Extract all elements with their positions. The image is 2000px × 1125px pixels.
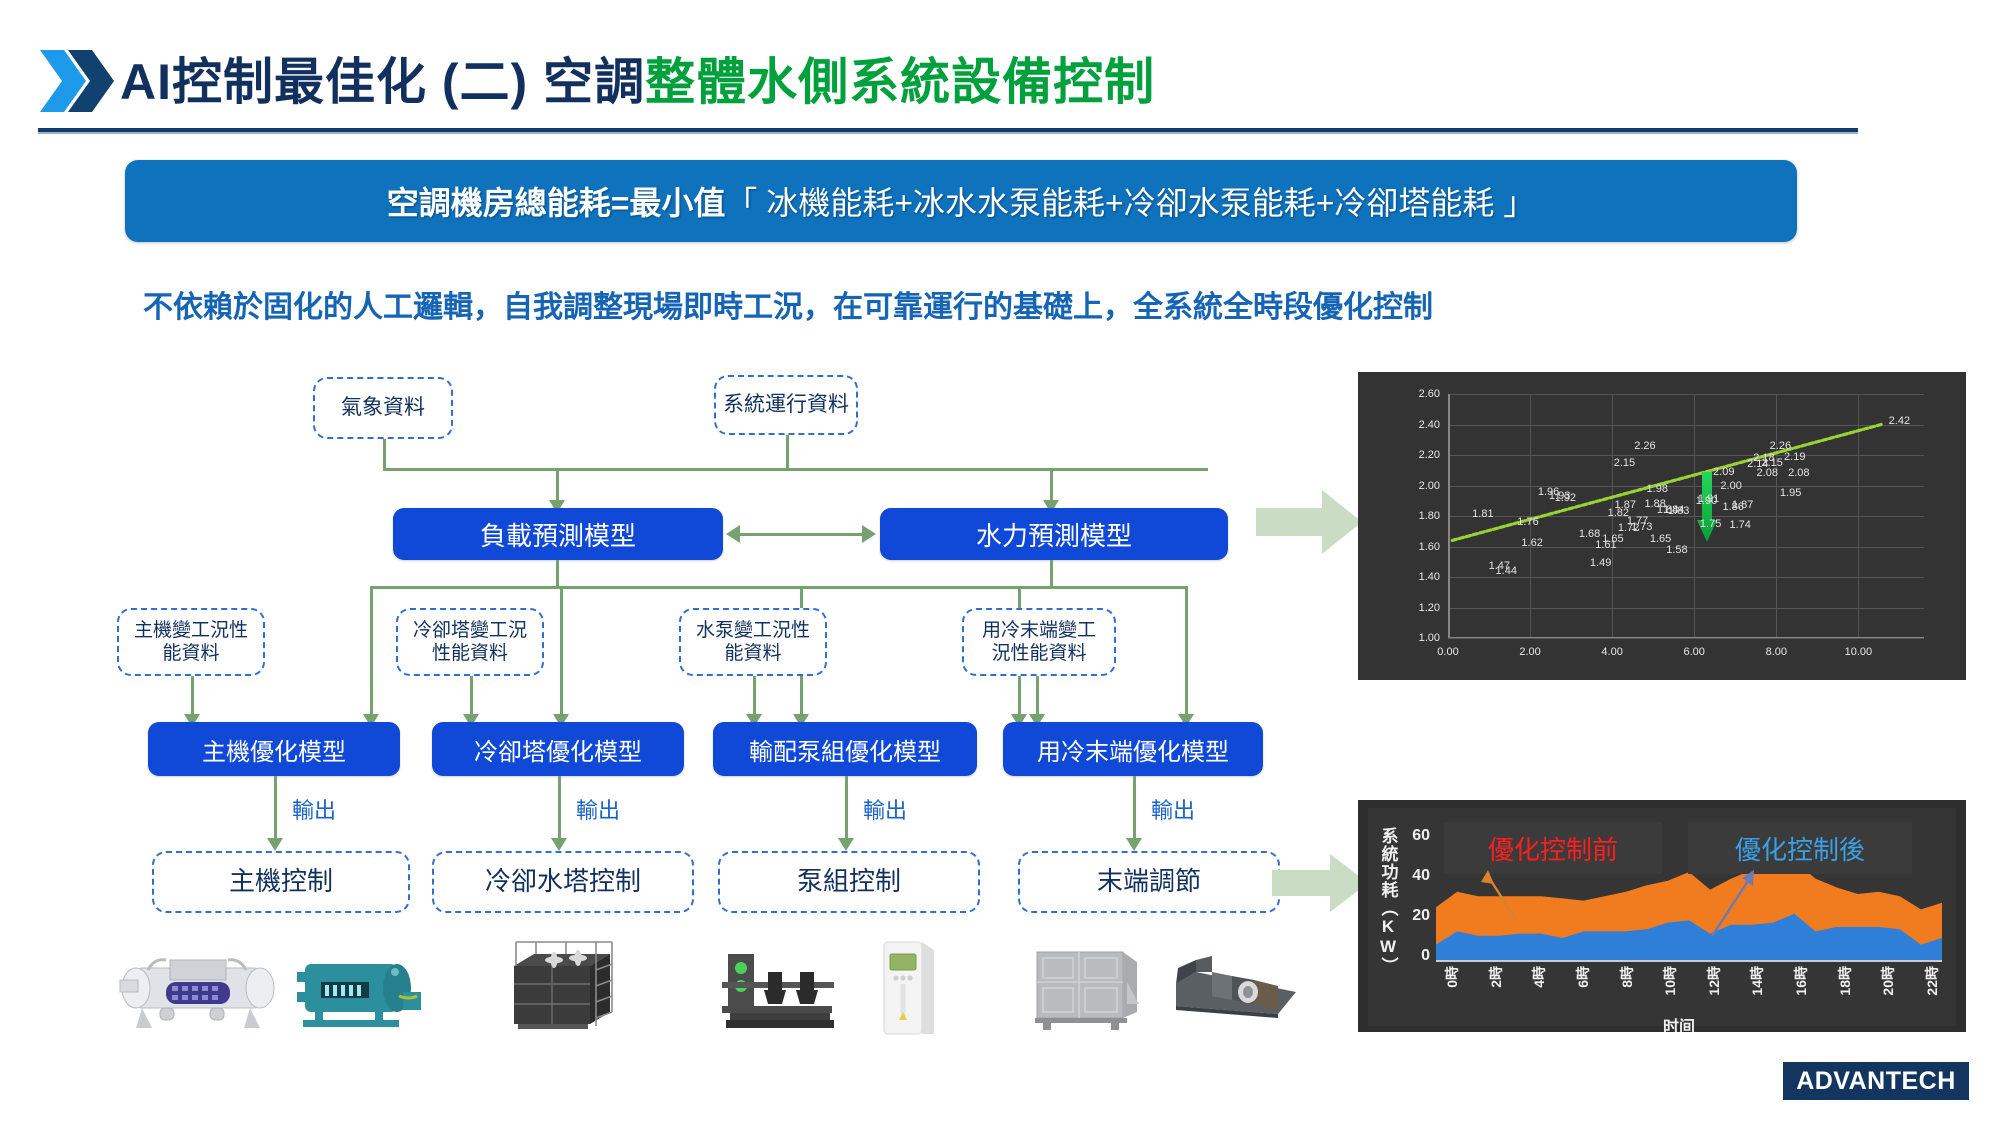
title-divider	[38, 128, 1858, 133]
formula-normal-part: 「 冰機能耗+冰水水泵能耗+冷卻水泵能耗+冷卻塔能耗 」	[725, 185, 1535, 221]
control-box-terminal[interactable]: 末端調節	[1018, 851, 1280, 913]
control-box-tower-label: 冷卻水塔控制	[485, 866, 641, 898]
scatter-ytick-1-00: 1.00	[1419, 632, 1440, 644]
formula-banner: 空調機房總能耗=最小值「 冰機能耗+冰水水泵能耗+冷卻水泵能耗+冷卻塔能耗 」	[125, 160, 1797, 242]
scatter-ytick-1-20: 1.20	[1419, 602, 1440, 614]
legend-before-label: 優化控制前	[1488, 830, 1618, 867]
optimizer-box-pump-label: 輸配泵組優化模型	[749, 732, 941, 767]
perf-box-chiller[interactable]: 主機變工況性 能資料	[117, 608, 265, 676]
input-box-system[interactable]: 系統運行資料	[714, 375, 858, 435]
optimizer-box-terminal-label: 用冷末端優化模型	[1037, 732, 1229, 767]
optimizer-box-terminal[interactable]: 用冷末端優化模型	[1003, 722, 1263, 776]
perf-box-terminal-line2: 況性能資料	[991, 643, 1086, 664]
area-chart-xtick: 14時	[1747, 966, 1767, 996]
connector-perf-2-down	[470, 676, 473, 716]
page-title-part1: AI控制最佳化 (二) 空調	[120, 54, 645, 110]
perf-box-pump-label: 水泵變工況性 能資料	[696, 619, 810, 665]
scatter-ytick-1-40: 1.40	[1419, 571, 1440, 583]
scatter-point-label: 1.62	[1521, 537, 1542, 549]
perf-box-tower-label: 冷卻塔變工況 性能資料	[413, 619, 527, 665]
subtitle-text: 不依賴於固化的人工邏輯，自我調整現場即時工況，在可靠運行的基礎上，全系統全時段優…	[143, 282, 1883, 326]
connector-drop-2	[560, 586, 563, 716]
connector-out-1	[274, 776, 277, 840]
scatter-point-label: 1.73	[1631, 521, 1652, 533]
equipment-ahu-icon	[1029, 942, 1145, 1034]
perf-box-chiller-line1: 主機變工況性	[134, 620, 248, 641]
control-box-tower[interactable]: 冷卻水塔控制	[432, 851, 694, 913]
block-arrow-to-bottom-chart	[1272, 852, 1370, 914]
optimizer-box-chiller-label: 主機優化模型	[202, 732, 346, 767]
scatter-point-label: 1.87	[1615, 499, 1636, 511]
input-box-system-label: 系統運行資料	[723, 392, 849, 418]
area-chart-xtick: 4時	[1529, 966, 1549, 988]
arrow-out-4	[1126, 838, 1142, 851]
connector-weather-down	[383, 439, 386, 468]
optimizer-box-chiller[interactable]: 主機優化模型	[148, 722, 400, 776]
arrow-out-2	[551, 838, 567, 851]
area-ytick-0: 0	[1402, 947, 1430, 965]
equipment-pump-skid-icon	[716, 948, 846, 1034]
scatter-point-label: 1.76	[1517, 516, 1538, 528]
perf-box-chiller-label: 主機變工況性 能資料	[134, 619, 248, 665]
equipment-cooling-tower-icon	[500, 940, 620, 1038]
model-box-hydraulic-prediction-label: 水力預測模型	[976, 516, 1132, 553]
scatter-point-label: 1.75	[1700, 518, 1721, 530]
perf-box-pump[interactable]: 水泵變工況性 能資料	[679, 608, 827, 676]
legend-after-label: 優化控制後	[1735, 830, 1865, 867]
scatter-ytick-2-20: 2.20	[1419, 449, 1440, 461]
scatter-point-label: 2.15	[1761, 457, 1782, 469]
area-chart-panel: 系統功耗（KW） 60 40 20 0 0時2時4時6時8時10時12時14時1…	[1358, 800, 1966, 1032]
scatter-point-label: 1.83	[1668, 505, 1689, 517]
area-chart-xtick: 10時	[1660, 966, 1680, 996]
connector-lower-bus-left	[370, 586, 800, 589]
model-box-load-prediction-label: 負載預測模型	[480, 516, 636, 553]
connector-drop-5	[1185, 586, 1188, 716]
optimizer-box-tower[interactable]: 冷卻塔優化模型	[432, 722, 684, 776]
optimizer-box-tower-label: 冷卻塔優化模型	[474, 732, 642, 767]
chevron-logo-icon	[38, 44, 114, 118]
control-box-pump-label: 泵組控制	[797, 866, 901, 898]
scatter-point-label: 2.15	[1614, 457, 1635, 469]
formula-bold-part: 空調機房總能耗=最小值	[387, 185, 726, 221]
connector-models-bidirectional	[736, 533, 868, 536]
connector-out-2	[558, 776, 561, 840]
page-title: AI控制最佳化 (二) 空調整體水側系統設備控制	[120, 42, 1155, 114]
scatter-ytick-2-00: 2.00	[1419, 480, 1440, 492]
arrow-out-1	[267, 838, 283, 851]
connector-load-model-down	[556, 560, 559, 586]
output-label-3: 輸出	[863, 793, 907, 825]
callout-arrow-before-icon	[1478, 866, 1520, 922]
connector-perf-3-down	[753, 676, 756, 716]
perf-box-terminal[interactable]: 用冷末端變工 況性能資料	[962, 608, 1116, 676]
callout-arrow-after-icon	[1708, 866, 1760, 938]
formula-banner-text: 空調機房總能耗=最小值「 冰機能耗+冰水水泵能耗+冷卻水泵能耗+冷卻塔能耗 」	[387, 178, 1536, 224]
area-chart-xtick: 2時	[1486, 966, 1506, 988]
equipment-duct-terminal-icon	[1168, 948, 1298, 1032]
control-box-chiller[interactable]: 主機控制	[152, 851, 410, 913]
scatter-ytick-2-60: 2.60	[1419, 388, 1440, 400]
arrow-out-3	[838, 838, 854, 851]
scatter-point-label: 2.19	[1784, 451, 1805, 463]
model-box-load-prediction[interactable]: 負載預測模型	[393, 508, 723, 560]
perf-box-tower-line2: 性能資料	[432, 643, 508, 664]
output-label-4: 輸出	[1151, 793, 1195, 825]
scatter-xtick-0: 0.00	[1437, 646, 1458, 658]
area-chart-x-axis	[1436, 960, 1942, 962]
scatter-point-label: 1.58	[1666, 544, 1687, 556]
input-box-weather-label: 氣象資料	[341, 395, 425, 421]
scatter-point-label: 2.08	[1788, 467, 1809, 479]
scatter-xtick-10: 10.00	[1845, 646, 1873, 658]
area-chart-xtick: 22時	[1922, 966, 1942, 996]
perf-box-pump-line1: 水泵變工況性	[696, 620, 810, 641]
output-label-1: 輸出	[292, 793, 336, 825]
output-label-2: 輸出	[576, 793, 620, 825]
scatter-point-label: 2.08	[1757, 467, 1778, 479]
scatter-point-label: 1.74	[1729, 519, 1750, 531]
input-box-weather[interactable]: 氣象資料	[313, 377, 453, 439]
scatter-point-label: 1.95	[1780, 487, 1801, 499]
scatter-point-label: 1.98	[1647, 483, 1668, 495]
connector-perf-4-down	[1036, 676, 1039, 716]
connector-system-down	[786, 435, 789, 468]
slide-root: AI控制最佳化 (二) 空調整體水側系統設備控制 空調機房總能耗=最小值「 冰機…	[0, 0, 2000, 1125]
area-chart-xtick: 6時	[1573, 966, 1593, 988]
connector-bus-to-hydro	[1050, 468, 1053, 502]
legend-before-optimization: 優化控制前	[1444, 822, 1662, 874]
scatter-point-label: 1.65	[1602, 533, 1623, 545]
scatter-point-label: 1.81	[1472, 508, 1493, 520]
scatter-point-label: 2.00	[1720, 480, 1741, 492]
area-chart-xtick: 8時	[1617, 966, 1637, 988]
advantech-logo-text: ADVANTECH	[1796, 1067, 1956, 1096]
perf-box-chiller-line2: 能資料	[162, 643, 219, 664]
scatter-point-label: 1.92	[1555, 492, 1576, 504]
perf-box-tower[interactable]: 冷卻塔變工況 性能資料	[396, 608, 544, 676]
connector-drop-1	[370, 586, 373, 716]
scatter-ytick-2-40: 2.40	[1419, 419, 1440, 431]
scatter-point-label: 1.44	[1496, 565, 1517, 577]
area-chart-xtick: 18時	[1835, 966, 1855, 996]
advantech-logo: ADVANTECH	[1783, 1062, 1969, 1100]
model-box-hydraulic-prediction[interactable]: 水力預測模型	[880, 508, 1228, 560]
scatter-point-label: 1.49	[1590, 557, 1611, 569]
scatter-xtick-6: 6.00	[1683, 646, 1704, 658]
area-chart-xtick: 16時	[1791, 966, 1811, 996]
arrow-models-right	[862, 525, 876, 543]
scatter-xtick-2: 2.00	[1519, 646, 1540, 658]
block-arrow-to-top-chart	[1256, 488, 1364, 556]
area-chart-xtick: 12時	[1704, 966, 1724, 996]
scatter-point-label: 2.42	[1889, 415, 1910, 427]
scatter-xtick-4: 4.00	[1601, 646, 1622, 658]
connector-hydro-model-down	[1050, 560, 1053, 586]
area-chart-x-title: 时间	[1663, 1013, 1695, 1032]
perf-box-terminal-label: 用冷末端變工 況性能資料	[982, 619, 1096, 665]
equipment-chiller-icon	[118, 948, 278, 1034]
connector-bus-to-load	[556, 468, 559, 502]
area-chart-inner: 系統功耗（KW） 60 40 20 0 0時2時4時6時8時10時12時14時1…	[1368, 808, 1956, 1026]
connector-bus	[383, 468, 1208, 471]
arrow-models-left	[726, 525, 740, 543]
scatter-point-label: 2.09	[1713, 466, 1734, 478]
equipment-controller-icon	[876, 938, 942, 1038]
area-chart-xtick: 20時	[1878, 966, 1898, 996]
perf-box-pump-line2: 能資料	[724, 643, 781, 664]
area-ytick-20: 20	[1402, 907, 1430, 925]
perf-box-terminal-line1: 用冷末端變工	[982, 620, 1096, 641]
area-chart-xtick: 0時	[1442, 966, 1462, 988]
connector-out-4	[1133, 776, 1136, 840]
scatter-point-label: 1.91	[1698, 493, 1719, 505]
scatter-point-label: 1.87	[1732, 499, 1753, 511]
equipment-heat-exchanger-icon	[295, 952, 425, 1034]
scatter-decline-arrow-icon	[1697, 472, 1717, 544]
connector-out-3	[845, 776, 848, 840]
scatter-chart-panel: 2.60 2.40 2.20 2.00 1.80 1.60 1.40 1.20 …	[1358, 372, 1966, 680]
perf-box-tower-line1: 冷卻塔變工況	[413, 620, 527, 641]
scatter-ytick-1-60: 1.60	[1419, 541, 1440, 553]
area-ytick-40: 40	[1402, 867, 1430, 885]
control-box-pump[interactable]: 泵組控制	[718, 851, 980, 913]
area-chart-y-title: 系統功耗（KW）	[1374, 826, 1402, 976]
connector-perf-1-down	[191, 676, 194, 716]
connector-lower-bus-right	[800, 586, 1185, 589]
scatter-point-label: 2.26	[1634, 440, 1655, 452]
optimizer-box-pump[interactable]: 輸配泵組優化模型	[713, 722, 977, 776]
page-title-part2: 整體水側系統設備控制	[645, 54, 1155, 110]
area-ytick-60: 60	[1402, 827, 1430, 845]
scatter-xtick-8: 8.00	[1766, 646, 1787, 658]
control-box-terminal-label: 末端調節	[1097, 866, 1201, 898]
scatter-chart-plot: 2.60 2.40 2.20 2.00 1.80 1.60 1.40 1.20 …	[1448, 394, 1924, 638]
control-box-chiller-label: 主機控制	[229, 866, 333, 898]
scatter-ytick-1-80: 1.80	[1419, 510, 1440, 522]
